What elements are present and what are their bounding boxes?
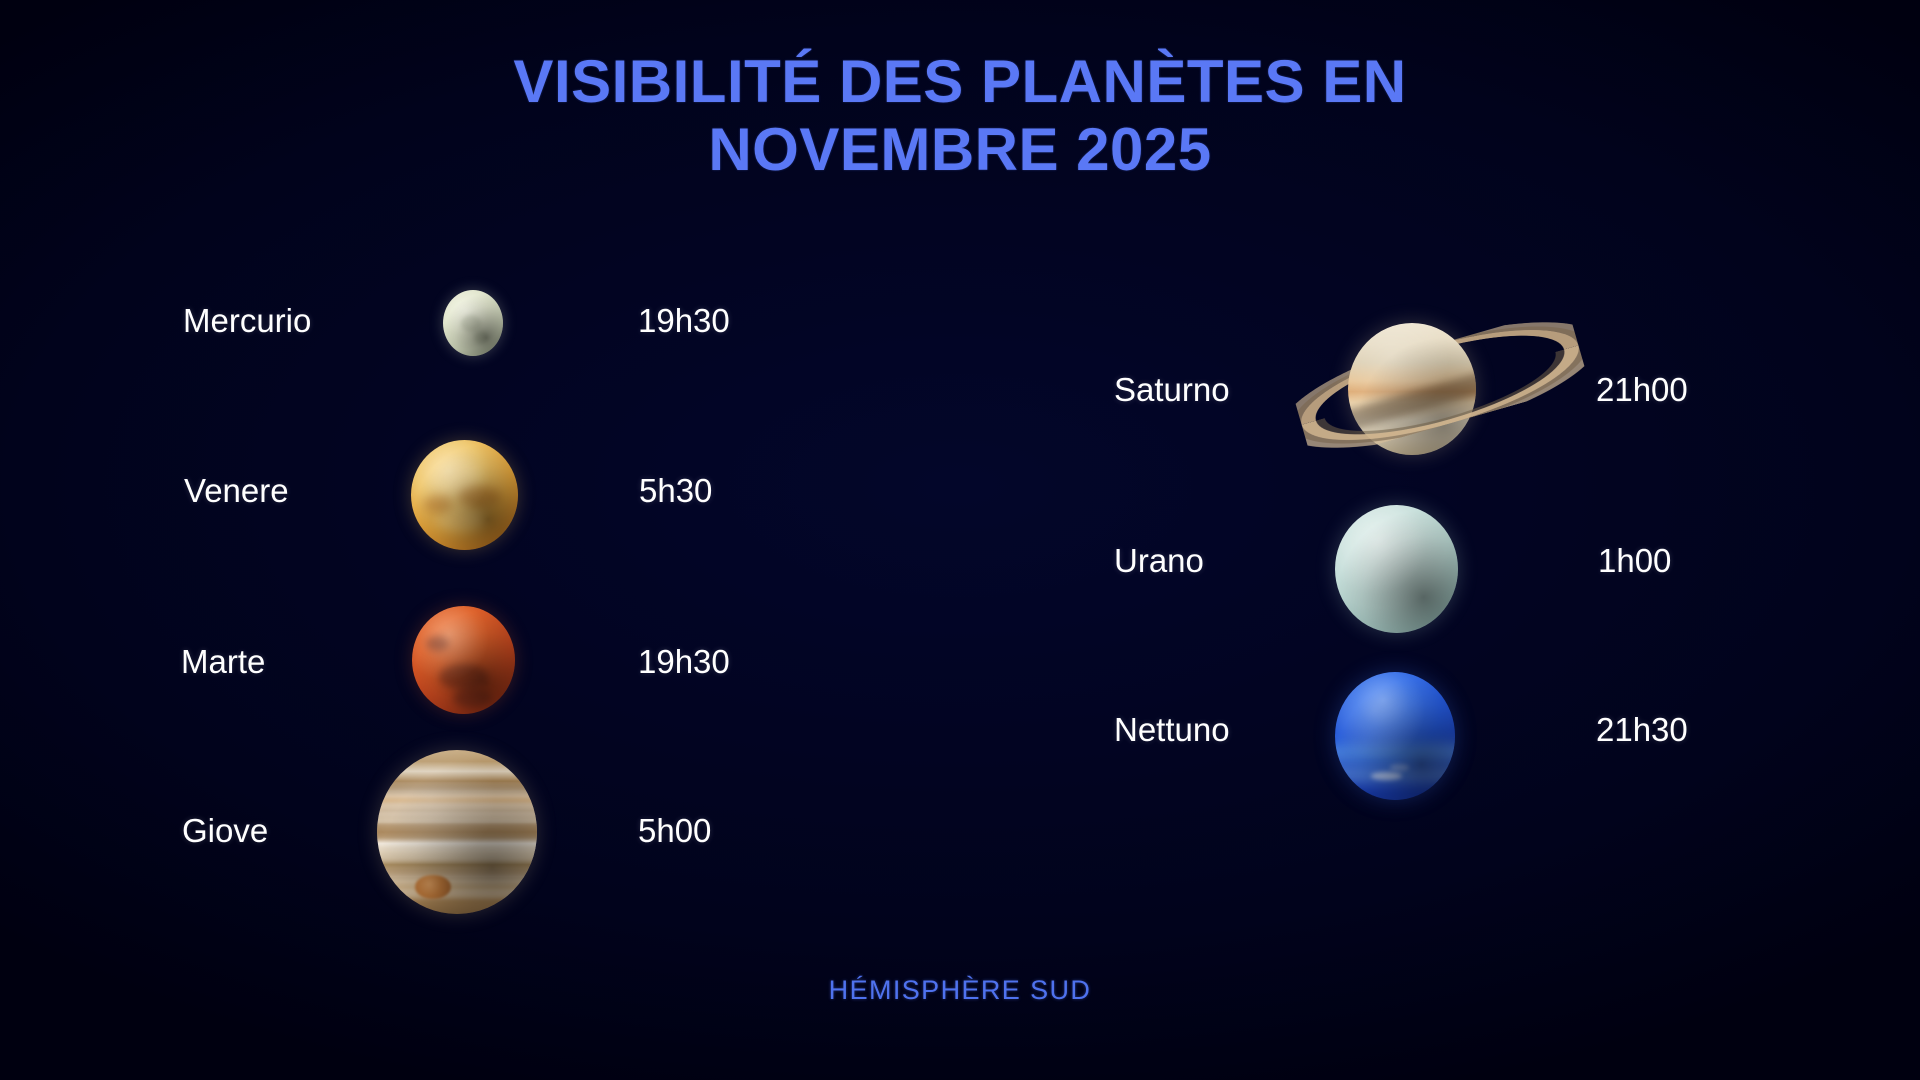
planet-name-mercurio: Mercurio bbox=[183, 302, 311, 340]
planet-name-marte: Marte bbox=[181, 643, 265, 681]
page-title: VISIBILITÉ DES PLANÈTES EN NOVEMBRE 2025 bbox=[0, 48, 1920, 184]
mars-planet-icon bbox=[412, 606, 515, 714]
footer: HÉMISPHÈRE SUD bbox=[0, 975, 1920, 1006]
hemisphere-label: HÉMISPHÈRE SUD bbox=[829, 975, 1092, 1005]
planet-time-venere: 5h30 bbox=[639, 472, 712, 510]
planet-name-venere: Venere bbox=[184, 472, 289, 510]
uranus-planet-icon bbox=[1335, 505, 1458, 633]
planet-name-giove: Giove bbox=[182, 812, 268, 850]
planet-name-saturno: Saturno bbox=[1114, 371, 1230, 409]
planet-time-urano: 1h00 bbox=[1598, 542, 1671, 580]
title-line-2: NOVEMBRE 2025 bbox=[0, 116, 1920, 184]
planet-time-saturno: 21h00 bbox=[1596, 371, 1688, 409]
mercury-planet-icon bbox=[443, 290, 503, 356]
neptune-planet-icon bbox=[1335, 672, 1455, 800]
planet-time-marte: 19h30 bbox=[638, 643, 730, 681]
venus-planet-icon bbox=[411, 440, 518, 550]
planet-name-urano: Urano bbox=[1114, 542, 1204, 580]
saturn-planet-icon bbox=[1290, 305, 1590, 465]
jupiter-planet-icon bbox=[377, 750, 537, 914]
planet-name-nettuno: Nettuno bbox=[1114, 711, 1230, 749]
planet-time-nettuno: 21h30 bbox=[1596, 711, 1688, 749]
planet-time-giove: 5h00 bbox=[638, 812, 711, 850]
title-line-1: VISIBILITÉ DES PLANÈTES EN bbox=[0, 48, 1920, 116]
planet-time-mercurio: 19h30 bbox=[638, 302, 730, 340]
